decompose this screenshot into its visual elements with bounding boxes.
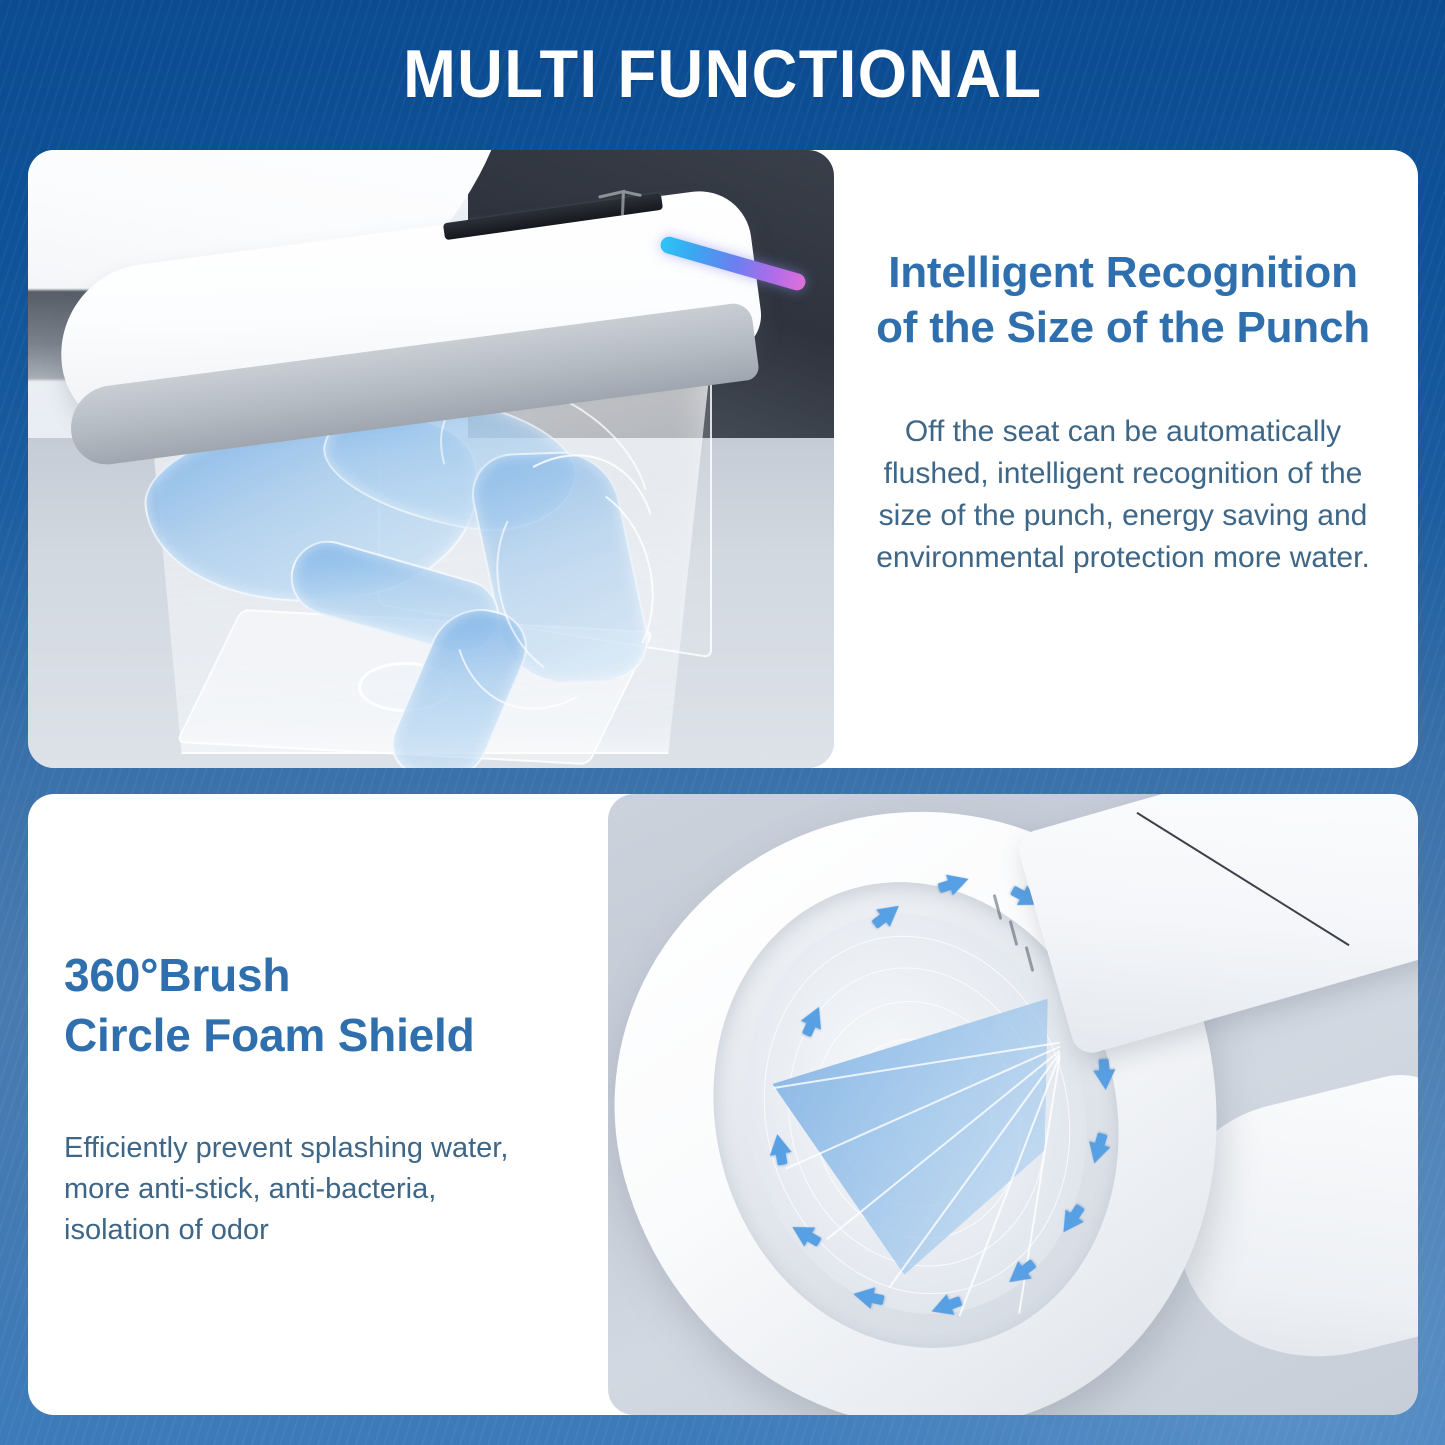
bowl-topdown-image (608, 794, 1418, 1415)
headline-line-1: Intelligent Recognition (888, 248, 1358, 297)
product-cutaway-image (28, 150, 834, 768)
headline-line-1: 360°Brush (64, 949, 290, 1001)
headline-line-2: Circle Foam Shield (64, 1009, 475, 1061)
feature-text-intelligent-recognition: Intelligent Recognition of the Size of t… (834, 150, 1418, 768)
description-line-2: more anti-stick, anti-bacteria, (64, 1173, 436, 1205)
feature-text-foam-shield: 360°Brush Circle Foam Shield Efficiently… (28, 794, 608, 1415)
flow-arrow-6 (1093, 1069, 1116, 1090)
toilet-tank-lid (1014, 794, 1418, 1057)
infographic-page: MULTI FUNCTIONAL (0, 0, 1445, 1445)
description-line-1: Efficiently prevent splashing water, (64, 1132, 508, 1164)
feature-card-intelligent-recognition: Intelligent Recognition of the Size of t… (28, 150, 1418, 768)
feature-headline: Intelligent Recognition of the Size of t… (876, 246, 1370, 355)
feature-card-foam-shield: 360°Brush Circle Foam Shield Efficiently… (28, 794, 1418, 1415)
page-title: MULTI FUNCTIONAL (403, 35, 1042, 113)
feature-description: Off the seat can be automatically flushe… (862, 411, 1384, 579)
headline-line-2: of the Size of the Punch (876, 303, 1370, 352)
page-title-bar: MULTI FUNCTIONAL (0, 0, 1445, 148)
flow-arrow-13 (766, 1132, 791, 1156)
feature-headline: 360°Brush Circle Foam Shield (64, 946, 578, 1066)
description-line-3: isolation of odor (64, 1214, 269, 1246)
feature-description: Efficiently prevent splashing water, mor… (64, 1128, 578, 1252)
